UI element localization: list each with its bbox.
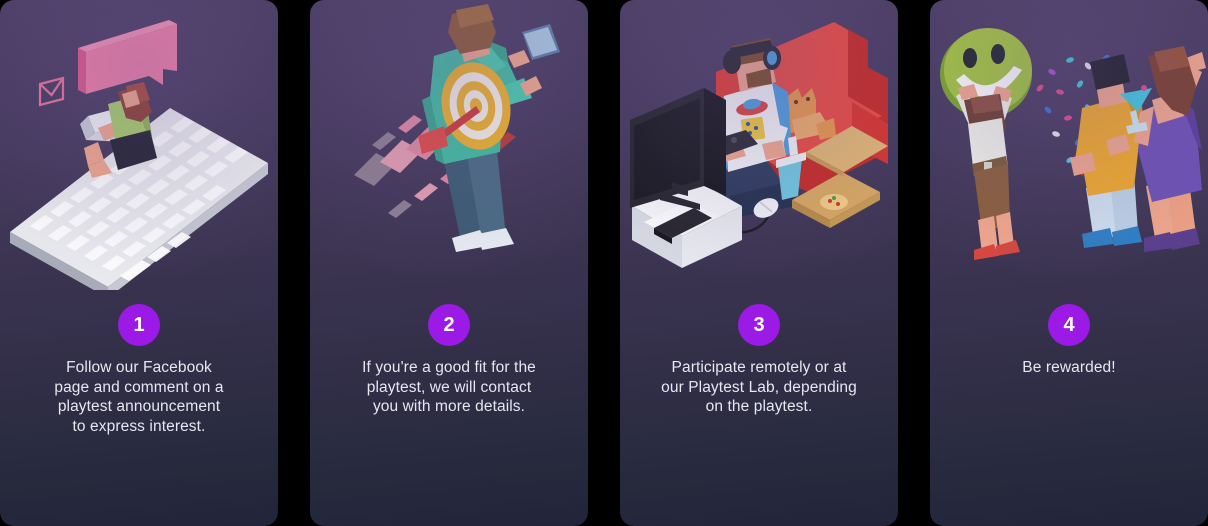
step-card-4[interactable]: 4 Be rewarded! [930, 0, 1208, 526]
standing-man-with-smartphone [418, 4, 560, 252]
illustration-gamer-on-floor-with-tv-and-couch [620, 0, 898, 290]
step-badge-number: 1 [118, 304, 160, 346]
step-badge-number: 2 [428, 304, 470, 346]
steps-board: 1 Follow our Facebook page and comment o… [0, 0, 1208, 526]
step-caption: If you're a good fit for the playtest, w… [322, 358, 576, 417]
illustration-celebrating-people-with-confetti [930, 0, 1208, 290]
step-card-2[interactable]: 2 If you're a good fit for the playtest,… [310, 0, 588, 526]
step-caption: Be rewarded! [942, 358, 1196, 378]
illustration-man-with-phone-and-target [310, 0, 588, 290]
step-card-3[interactable]: 3 Participate remotely or at our Playtes… [620, 0, 898, 526]
illustration-woman-on-keyboard-with-laptop [0, 0, 278, 290]
step-card-1[interactable]: 1 Follow our Facebook page and comment o… [0, 0, 278, 526]
step-caption: Follow our Facebook page and comment on … [12, 358, 266, 436]
speech-bubble-icon [78, 20, 177, 94]
envelope-icon [40, 78, 63, 105]
television-on-stand [630, 88, 742, 268]
step-caption: Participate remotely or at our Playtest … [632, 358, 886, 417]
step-badge-number: 3 [738, 304, 780, 346]
step-badge-number: 4 [1048, 304, 1090, 346]
